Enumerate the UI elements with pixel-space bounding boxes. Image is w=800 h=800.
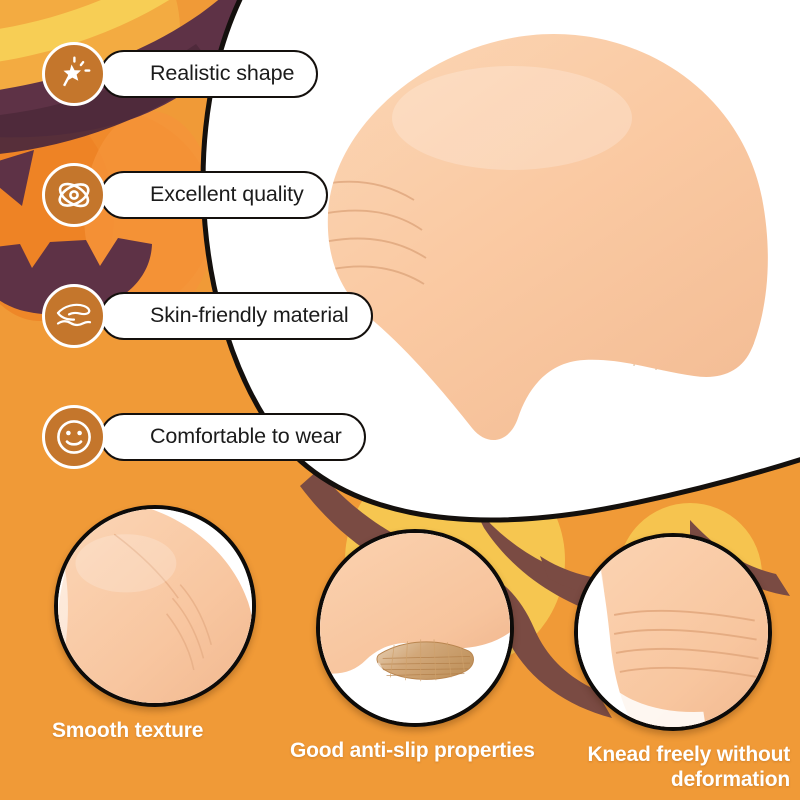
feature-label: Realistic shape [150, 63, 294, 85]
feature-pill[interactable]: Excellent quality [100, 171, 328, 219]
feature-item-excellent-quality[interactable]: Excellent quality [42, 163, 362, 243]
detail-circle-image [574, 533, 772, 731]
main-product-image [322, 28, 792, 458]
detail-circle-image [316, 529, 514, 727]
detail-circle-group: Smooth texture [0, 505, 800, 800]
detail-item-smooth-texture: Smooth texture [30, 505, 280, 744]
feature-label: Comfortable to wear [150, 426, 342, 448]
product-infographic-poster: Realistic shape Excellent quality [0, 0, 800, 800]
feature-pill[interactable]: Realistic shape [100, 50, 318, 98]
feature-pill[interactable]: Skin-friendly material [100, 292, 373, 340]
feature-item-comfortable-to-wear[interactable]: Comfortable to wear [42, 405, 362, 485]
smiley-face-icon [42, 405, 106, 469]
sparkle-star-icon [42, 42, 106, 106]
feature-item-realistic-shape[interactable]: Realistic shape [42, 42, 362, 122]
hand-waves-icon [42, 284, 106, 348]
detail-caption: Knead freely without deformation [548, 743, 798, 793]
feature-item-skin-friendly-material[interactable]: Skin-friendly material [42, 284, 362, 364]
feature-list: Realistic shape Excellent quality [42, 42, 362, 485]
atom-molecule-icon [42, 163, 106, 227]
feature-pill[interactable]: Comfortable to wear [100, 413, 366, 461]
detail-caption: Smooth texture [30, 719, 280, 744]
detail-item-anti-slip: Good anti-slip properties [290, 529, 540, 764]
feature-label: Excellent quality [150, 184, 304, 206]
detail-circle-image [54, 505, 256, 707]
feature-label: Skin-friendly material [150, 305, 349, 327]
detail-caption: Good anti-slip properties [290, 739, 540, 764]
detail-item-knead-freely: Knead freely without deformation [548, 533, 798, 793]
